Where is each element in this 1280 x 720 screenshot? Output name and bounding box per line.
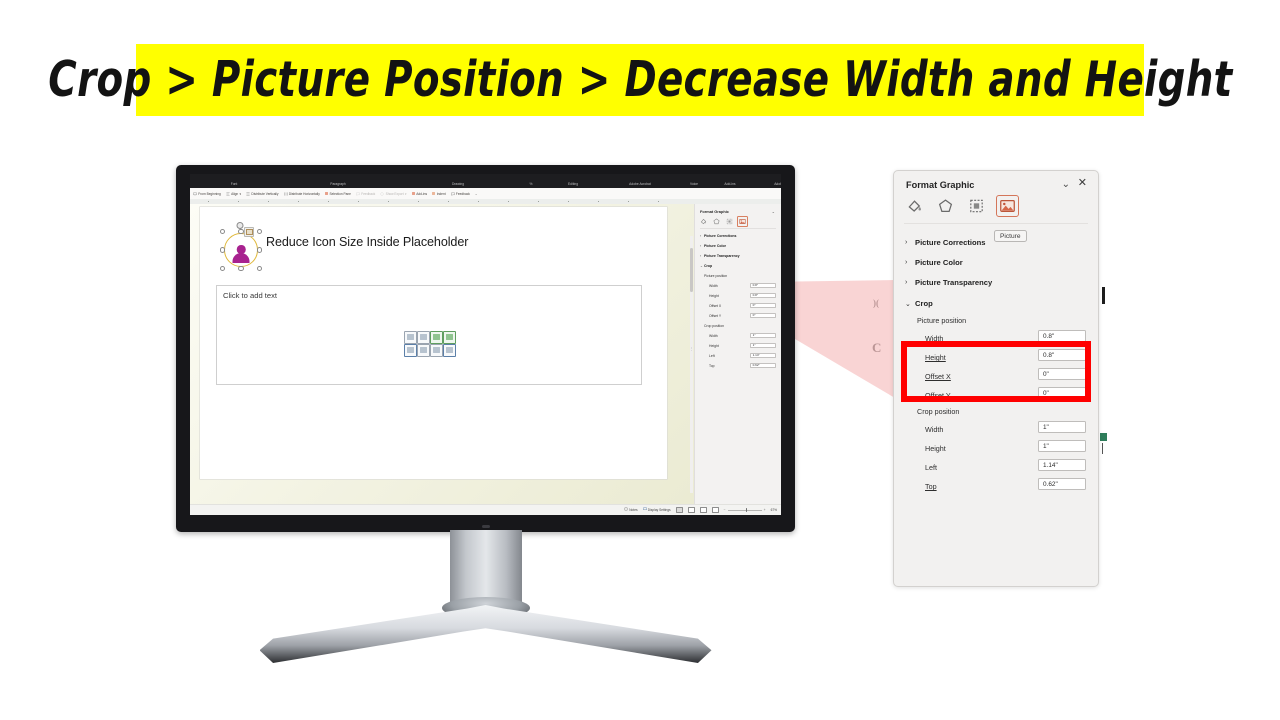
picture-offsetx-input[interactable]: 0" xyxy=(1038,368,1086,380)
resize-handle-ne[interactable] xyxy=(257,229,262,234)
zoom-percentage[interactable]: 67% xyxy=(771,508,777,512)
zoom-knob[interactable] xyxy=(746,508,748,512)
size-layout-icon[interactable] xyxy=(968,198,985,214)
qat-feedback2[interactable]: Feedback xyxy=(451,192,470,196)
ghost-glyph-2: C xyxy=(872,340,881,356)
layout-options-badge[interactable] xyxy=(244,227,254,237)
feedback2-icon xyxy=(451,192,455,196)
crop-width-input[interactable]: 1" xyxy=(1038,421,1086,433)
zoom-track xyxy=(728,510,762,511)
present-icon xyxy=(193,192,197,196)
notes-icon xyxy=(624,507,628,512)
crop-height-label: Height xyxy=(709,344,719,348)
crop-left-label: Left xyxy=(925,463,937,472)
resize-handle-sw[interactable] xyxy=(220,266,225,271)
resize-handle-n[interactable] xyxy=(238,229,243,234)
qat-selection-pane[interactable]: Selection Pane xyxy=(325,192,351,196)
feedback-icon xyxy=(356,192,360,196)
close-icon[interactable]: ✕ xyxy=(1078,177,1087,189)
title-banner: Crop > Picture Position > Decrease Width… xyxy=(136,44,1144,116)
section-crop[interactable]: ⌄ Crop xyxy=(905,299,933,308)
display-settings-label: Display Settings xyxy=(648,508,671,512)
3d-models-icon[interactable] xyxy=(443,331,456,344)
picture-offsety-label: Offset Y xyxy=(925,391,951,400)
fill-icon[interactable] xyxy=(906,198,923,214)
pane-section-picture-corrections[interactable]: ›Picture Corrections xyxy=(700,234,776,238)
icon-circle-shape xyxy=(224,233,258,267)
ribbon-group-adobe[interactable]: Adobe xyxy=(750,182,781,186)
ribbon-group-labels: Font Paragraph Drawing % Editing Adobe A… xyxy=(190,179,781,188)
qat-label: Selection Pane xyxy=(330,192,351,196)
chevron-right-icon: › xyxy=(905,239,910,246)
scroll-dots-icon: ⋮ xyxy=(690,348,693,350)
ribbon-group-paragraph[interactable]: Paragraph xyxy=(278,182,398,186)
person-icon-body xyxy=(233,253,250,263)
chart-icon[interactable] xyxy=(443,344,456,357)
picture-offsety-input[interactable]: 0" xyxy=(1038,387,1086,399)
chevron-right-icon: › xyxy=(905,279,910,286)
qat-label: Align xyxy=(231,192,238,196)
slide-title-text[interactable]: Reduce Icon Size Inside Placeholder xyxy=(266,235,468,249)
qat-label: Show Export xyxy=(386,192,404,196)
qat-indent[interactable]: Indent xyxy=(432,192,446,196)
qat-label: Distribute Horizontally xyxy=(289,192,320,196)
picture-height-label: Height xyxy=(709,294,719,298)
overflow-icon: ⌄ xyxy=(475,192,478,196)
monitor-screen: Font Paragraph Drawing % Editing Adobe A… xyxy=(190,174,781,515)
crop-left-input[interactable]: 1.14" xyxy=(750,353,776,359)
section-label: Crop xyxy=(704,264,712,268)
crop-left-input[interactable]: 1.14" xyxy=(1038,459,1086,471)
resize-handle-s[interactable] xyxy=(238,266,243,271)
crop-top-label: Top xyxy=(925,482,937,491)
crop-position-label: Crop position xyxy=(704,324,724,328)
qat-label: Distribute Vertically xyxy=(251,192,278,196)
zoom-out-button[interactable]: − xyxy=(724,508,726,512)
chevron-down-icon[interactable]: ⌄ xyxy=(772,209,775,214)
zoom-slider[interactable]: − + xyxy=(724,508,766,512)
qat-label: From Beginning xyxy=(198,192,221,196)
crop-width-input[interactable]: 1" xyxy=(750,333,776,339)
crop-height-input[interactable]: 1" xyxy=(750,343,776,349)
picture-width-label: Width xyxy=(709,284,718,288)
picture-width-label: Width xyxy=(925,334,943,343)
display-settings-icon xyxy=(643,507,647,512)
crop-top-input[interactable]: 0.62" xyxy=(750,363,776,369)
pane-section-picture-color[interactable]: ›Picture Color xyxy=(700,244,776,248)
chevron-down-icon: ⌄ xyxy=(905,300,910,308)
ribbon-group-percent[interactable]: % xyxy=(518,182,544,186)
ghost-accent-right xyxy=(1100,433,1107,441)
size-layout-icon[interactable] xyxy=(726,218,733,225)
chevron-down-icon[interactable]: ⌄ xyxy=(1062,179,1070,190)
picture-offsetx-input[interactable]: 0" xyxy=(750,303,776,309)
resize-handle-w[interactable] xyxy=(220,247,225,252)
resize-handle-se[interactable] xyxy=(257,266,262,271)
addins-icon xyxy=(412,192,415,196)
pane-divider xyxy=(700,228,776,229)
ghost-glyph-1: )( xyxy=(873,298,879,308)
ribbon-group-voice[interactable]: Voice xyxy=(678,182,710,186)
crop-left-label: Left xyxy=(709,354,715,358)
qat-label: Add-ins xyxy=(416,192,427,196)
fill-icon[interactable] xyxy=(700,218,707,225)
qat-label: Feedback xyxy=(361,192,375,196)
picture-position-label: Picture position xyxy=(704,274,727,278)
qat-show-export[interactable]: Show Export ▾ xyxy=(380,192,406,196)
slide-editing-area: Reduce Icon Size Inside Placeholder Clic… xyxy=(190,204,781,505)
pane-title: Format Graphic xyxy=(906,180,974,190)
selection-pane-icon xyxy=(325,192,328,196)
display-settings-button[interactable]: Display Settings xyxy=(643,507,671,512)
picture-offsetx-label: Offset X xyxy=(925,372,951,381)
status-bar-right-group: Notes Display Settings xyxy=(624,507,777,513)
picture-icon xyxy=(246,229,253,235)
notes-button[interactable]: Notes xyxy=(624,507,638,512)
picture-height-input[interactable]: 0.8" xyxy=(1038,349,1086,361)
qat-addins[interactable]: Add-ins xyxy=(412,192,428,196)
picture-height-input[interactable]: 0.8" xyxy=(750,293,776,299)
body-placeholder[interactable]: Click to add text xyxy=(216,285,642,385)
section-label: Picture Color xyxy=(704,244,726,248)
picture-offsety-input[interactable]: 0" xyxy=(750,313,776,319)
slideshow-icon[interactable] xyxy=(712,507,719,513)
pictures-icon[interactable] xyxy=(404,331,417,344)
rotate-handle[interactable] xyxy=(237,222,244,229)
placeholder-insert-icons xyxy=(404,331,454,355)
table-icon[interactable] xyxy=(430,344,443,357)
ghost-line-right xyxy=(1102,443,1103,454)
align-icon xyxy=(226,192,230,196)
crop-height-input[interactable]: 1" xyxy=(1038,440,1086,452)
crop-top-input[interactable]: 0.62" xyxy=(1038,478,1086,490)
resize-handle-e[interactable] xyxy=(257,247,262,252)
selected-icon-graphic[interactable] xyxy=(220,229,260,269)
pane-title: Format Graphic xyxy=(700,209,729,214)
section-label: Picture Corrections xyxy=(915,238,985,247)
ribbon-group-adobe-acrobat[interactable]: Adobe Acrobat xyxy=(602,182,678,186)
ribbon-group-addins[interactable]: Add-ins xyxy=(710,182,750,186)
section-picture-color[interactable]: › Picture Color xyxy=(905,258,963,267)
resize-handle-nw[interactable] xyxy=(220,229,225,234)
distribute-vertical-icon xyxy=(246,192,250,196)
placeholder-prompt-text: Click to add text xyxy=(223,291,277,300)
ribbon-group-editing[interactable]: Editing xyxy=(544,182,602,186)
slide[interactable]: Reduce Icon Size Inside Placeholder Clic… xyxy=(200,207,667,479)
status-bar: Notes Display Settings xyxy=(190,504,781,515)
section-label: Picture Transparency xyxy=(915,278,992,287)
picture-width-input[interactable]: 0.8" xyxy=(750,283,776,289)
section-label: Crop xyxy=(915,299,933,308)
effects-icon[interactable] xyxy=(937,198,954,214)
chevron-down-icon: ▾ xyxy=(240,192,242,196)
pane-tab-icons xyxy=(700,218,746,225)
picture-offsety-label: Offset Y xyxy=(709,314,721,318)
qat-feedback[interactable]: Feedback xyxy=(356,192,375,196)
monitor: Font Paragraph Drawing % Editing Adobe A… xyxy=(176,165,795,532)
section-picture-corrections[interactable]: › Picture Corrections xyxy=(905,238,985,247)
zoom-in-button[interactable]: + xyxy=(764,508,766,512)
picture-offsetx-label: Offset X xyxy=(709,304,721,308)
crop-height-label: Height xyxy=(925,444,946,453)
picture-width-input[interactable]: 0.8" xyxy=(1038,330,1086,342)
crop-width-label: Width xyxy=(925,425,943,434)
qat-overflow[interactable]: ⌄ xyxy=(475,192,478,196)
section-label: Picture Corrections xyxy=(704,234,736,238)
qat-from-beginning[interactable]: From Beginning xyxy=(193,192,221,196)
normal-view-icon[interactable] xyxy=(676,507,683,513)
chevron-down-icon: ▾ xyxy=(405,192,407,196)
format-graphic-pane-enlarged: Format Graphic ⌄ ✕ Picture › Picture Cor… xyxy=(893,170,1099,587)
monitor-stand-base xyxy=(260,605,712,663)
qat-label: Feedback xyxy=(456,192,470,196)
picture-icon[interactable] xyxy=(739,218,746,225)
qat-align[interactable]: Align ▾ xyxy=(226,192,241,196)
stock-images-icon[interactable] xyxy=(417,331,430,344)
format-graphic-pane-small: Format Graphic ⌄ xyxy=(694,204,781,505)
qat-distribute-vertically[interactable]: Distribute Vertically xyxy=(246,192,278,196)
picture-tooltip: Picture xyxy=(994,230,1027,242)
reading-view-icon[interactable] xyxy=(700,507,707,513)
pane-section-picture-transparency[interactable]: ›Picture Transparency xyxy=(700,254,776,258)
background-strip-right xyxy=(1096,168,1122,586)
pane-section-crop[interactable]: ⌄Crop xyxy=(700,264,776,268)
section-picture-transparency[interactable]: › Picture Transparency xyxy=(905,278,992,287)
vertical-scrollbar[interactable]: ⋮ xyxy=(690,236,693,493)
distribute-horizontal-icon xyxy=(284,192,288,196)
powerpoint-window: Font Paragraph Drawing % Editing Adobe A… xyxy=(190,174,781,515)
crop-position-label: Crop position xyxy=(917,407,959,416)
picture-position-label: Picture position xyxy=(917,316,966,325)
scrollbar-thumb[interactable] xyxy=(690,248,693,292)
section-label: Picture Transparency xyxy=(704,254,740,258)
chevron-right-icon: › xyxy=(905,259,910,266)
picture-icon[interactable] xyxy=(999,198,1016,214)
crop-top-label: Top xyxy=(709,364,714,368)
notes-label: Notes xyxy=(629,508,637,512)
section-label: Picture Color xyxy=(915,258,963,267)
crop-width-label: Width xyxy=(709,334,718,338)
slide-sorter-icon[interactable] xyxy=(688,507,695,513)
slide-canvas: Crop > Picture Position > Decrease Width… xyxy=(0,0,1280,720)
qat-distribute-horizontally[interactable]: Distribute Horizontally xyxy=(284,192,320,196)
picture-height-label: Height xyxy=(925,353,946,362)
smartart-icon[interactable] xyxy=(404,344,417,357)
export-icon xyxy=(380,192,384,196)
qat-label: Indent xyxy=(437,192,446,196)
indent-icon xyxy=(432,192,435,196)
ghost-divider-right xyxy=(1102,287,1105,304)
icons-icon[interactable] xyxy=(430,331,443,344)
page-title: Crop > Picture Position > Decrease Width… xyxy=(48,52,1232,108)
pane-tab-icons xyxy=(906,198,1016,214)
video-icon[interactable] xyxy=(417,344,430,357)
ribbon-group-drawing[interactable]: Drawing xyxy=(398,182,518,186)
effects-icon[interactable] xyxy=(713,218,720,225)
ribbon-group-font[interactable]: Font xyxy=(190,182,278,186)
pane-divider xyxy=(904,223,1088,224)
